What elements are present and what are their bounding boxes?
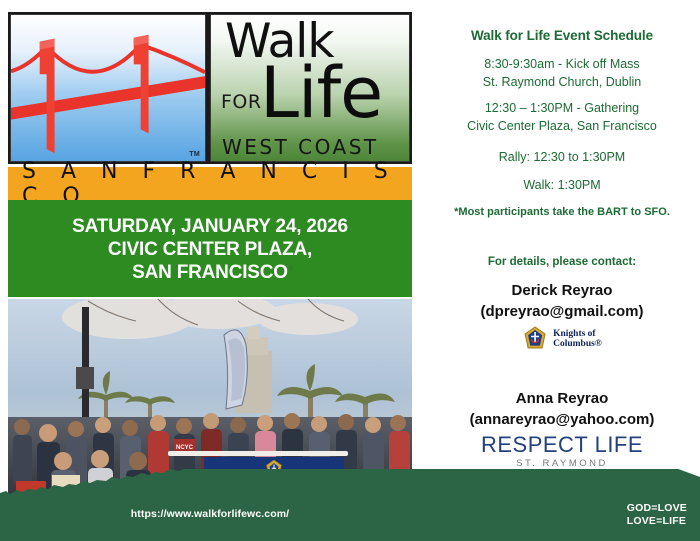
contact-email-secondary[interactable]: (annareyrao@yahoo.com) xyxy=(424,411,700,428)
logo-life-text: Life xyxy=(260,57,382,129)
respect-life-parish: ST. RAYMOND xyxy=(424,458,700,469)
left-column: TM Walk FOR Life WEST COAST S A N F R A … xyxy=(0,0,420,541)
flyer-page: TM Walk FOR Life WEST COAST S A N F R A … xyxy=(0,0,700,541)
schedule-line-2: St. Raymond Church, Dublin xyxy=(424,75,700,89)
san-francisco-band: S A N F R A N C I S C O xyxy=(8,167,412,200)
knights-of-columbus-logo: Knights of Columbus® xyxy=(522,326,602,352)
event-date-line: SATURDAY, JANUARY 24, 2026 xyxy=(72,215,348,238)
schedule-title: Walk for Life Event Schedule xyxy=(424,28,700,43)
schedule-line-4: Civic Center Plaza, San Francisco xyxy=(424,119,700,133)
kofc-line-1: Knights of xyxy=(553,329,602,340)
logo-wordmark-panel: Walk FOR Life WEST COAST xyxy=(210,14,410,162)
event-city-line: SAN FRANCISCO xyxy=(132,261,288,284)
knights-of-columbus-emblem-icon xyxy=(522,326,548,352)
footer-band: https://www.walkforlifewc.com/ GOD=LOVE … xyxy=(0,469,700,541)
grass-edge-shape xyxy=(0,469,700,541)
contact-name-secondary: Anna Reyrao xyxy=(424,390,700,407)
kofc-line-2: Columbus® xyxy=(553,339,602,350)
schedule-rally: Rally: 12:30 to 1:30PM xyxy=(424,150,700,164)
respect-life-logo-text: RESPECT LIFE xyxy=(424,432,700,458)
trademark-mark: TM xyxy=(189,151,200,158)
walk-for-life-logo: TM Walk FOR Life WEST COAST xyxy=(8,12,412,164)
schedule-line-1: 8:30-9:30am - Kick off Mass xyxy=(424,57,700,71)
heart-in-dotted-circle-icon xyxy=(627,502,700,541)
website-url[interactable]: https://www.walkforlifewc.com/ xyxy=(0,508,420,520)
schedule-walk: Walk: 1:30PM xyxy=(424,178,700,192)
event-venue-line: CIVIC CENTER PLAZA, xyxy=(108,238,312,261)
event-date-banner: SATURDAY, JANUARY 24, 2026 CIVIC CENTER … xyxy=(8,200,412,297)
knights-of-columbus-wordmark: Knights of Columbus® xyxy=(553,329,602,350)
schedule-line-3: 12:30 – 1:30PM - Gathering xyxy=(424,101,700,115)
right-column: Walk for Life Event Schedule 8:30-9:30am… xyxy=(424,0,700,541)
golden-gate-bridge-panel: TM xyxy=(10,14,206,162)
schedule-note: *Most participants take the BART to SFO. xyxy=(424,206,700,218)
contact-email-primary[interactable]: (dpreyrao@gmail.com) xyxy=(424,303,700,320)
photo-shirt-text: NCYC xyxy=(176,445,194,451)
logo-for-text: FOR xyxy=(221,91,262,113)
contact-heading: For details, please contact: xyxy=(424,256,700,268)
golden-gate-bridge-icon xyxy=(11,15,205,161)
logo-west-coast-text: WEST COAST xyxy=(222,135,379,159)
contact-name-primary: Derick Reyrao xyxy=(424,282,700,299)
motto-block: GOD=LOVE LOVE=LIFE xyxy=(627,502,687,527)
